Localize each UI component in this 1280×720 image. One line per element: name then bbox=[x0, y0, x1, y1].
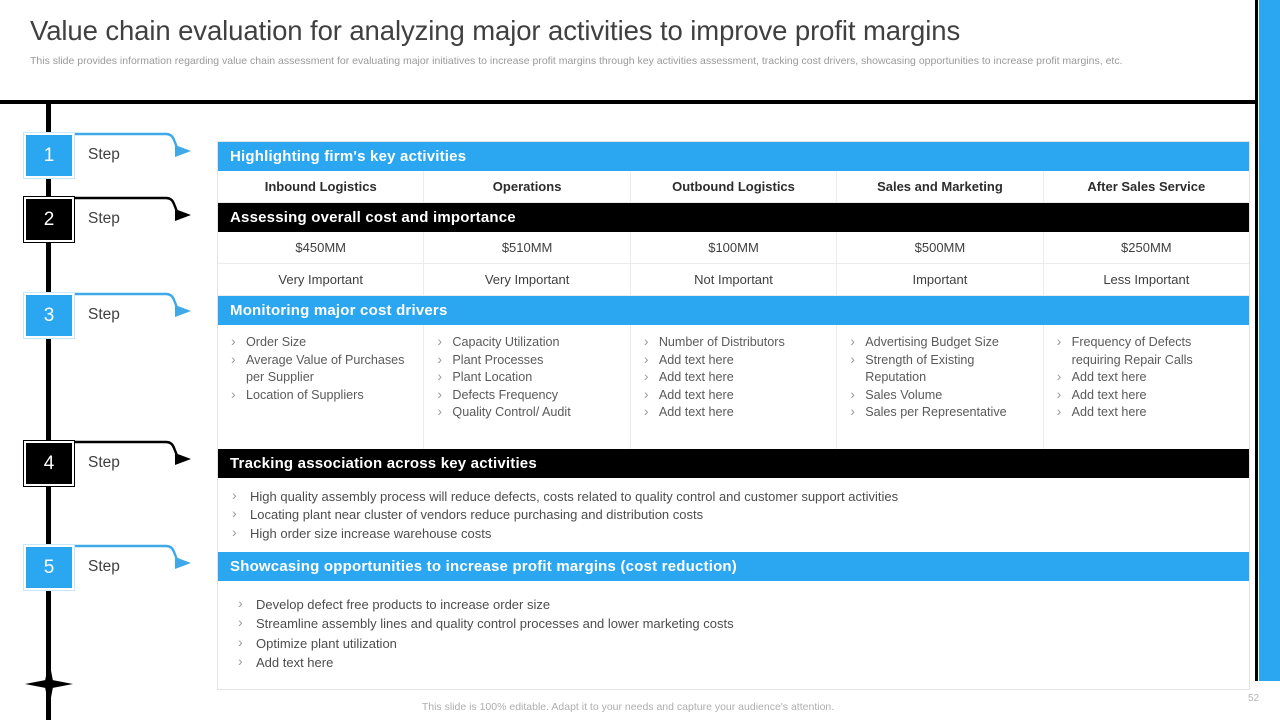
timeline-spine bbox=[46, 100, 51, 720]
band-showcasing: Showcasing opportunities to increase pro… bbox=[218, 552, 1249, 581]
cost-value: $250MM bbox=[1044, 232, 1249, 264]
importance-value: Less Important bbox=[1044, 264, 1249, 296]
cost-driver-column: Advertising Budget SizeStrength of Exist… bbox=[837, 325, 1043, 449]
step-number: 3 bbox=[26, 295, 72, 336]
list-item: Plant Location bbox=[434, 369, 621, 387]
importance-value: Not Important bbox=[631, 264, 837, 296]
step-number: 5 bbox=[26, 547, 72, 588]
list-item: Defects Frequency bbox=[434, 387, 621, 405]
timeline-step-5[interactable]: 5 bbox=[24, 545, 74, 590]
activity-column-header: Operations bbox=[424, 171, 630, 203]
list-item: Number of Distributors bbox=[641, 334, 828, 352]
right-accent-bar bbox=[1259, 0, 1280, 681]
list-item: Add text here bbox=[1054, 387, 1241, 405]
activity-column-header: After Sales Service bbox=[1044, 171, 1249, 203]
showcasing-list: Develop defect free products to increase… bbox=[236, 595, 1249, 673]
list-item: Average Value of Purchases per Supplier bbox=[228, 352, 415, 387]
slide: Value chain evaluation for analyzing maj… bbox=[0, 0, 1280, 720]
connector-arrow-3 bbox=[74, 288, 194, 332]
band-cost-drivers: Monitoring major cost drivers bbox=[218, 296, 1249, 325]
list-item: Frequency of Defects requiring Repair Ca… bbox=[1054, 334, 1241, 369]
list-item: Add text here bbox=[641, 404, 828, 422]
step-number: 1 bbox=[26, 135, 72, 176]
list-item: Order Size bbox=[228, 334, 415, 352]
timeline-step-3[interactable]: 3 bbox=[24, 293, 74, 338]
list-item: Sales Volume bbox=[847, 387, 1034, 405]
header-divider bbox=[0, 100, 1258, 104]
list-item: Streamline assembly lines and quality co… bbox=[236, 614, 1249, 634]
list-item: Add text here bbox=[641, 369, 828, 387]
cost-value: $510MM bbox=[424, 232, 630, 264]
list-item: High quality assembly process will reduc… bbox=[230, 488, 1249, 506]
list-item: Add text here bbox=[1054, 369, 1241, 387]
showcasing-list-wrap: Develop defect free products to increase… bbox=[218, 581, 1249, 689]
cost-driver-column: Number of DistributorsAdd text hereAdd t… bbox=[631, 325, 837, 449]
cost-drivers-grid: Order SizeAverage Value of Purchases per… bbox=[218, 325, 1249, 449]
cost-driver-list: Advertising Budget SizeStrength of Exist… bbox=[847, 334, 1034, 422]
importance-value: Important bbox=[837, 264, 1043, 296]
connector-arrow-1 bbox=[74, 128, 194, 172]
cost-row: $450MM $510MM $100MM $500MM $250MM bbox=[218, 232, 1249, 264]
list-item: Strength of Existing Reputation bbox=[847, 352, 1034, 387]
activities-header-row: Inbound Logistics Operations Outbound Lo… bbox=[218, 171, 1249, 203]
list-item: Plant Processes bbox=[434, 352, 621, 370]
cost-value: $100MM bbox=[631, 232, 837, 264]
tracking-list-wrap: High quality assembly process will reduc… bbox=[218, 478, 1249, 552]
tracking-list: High quality assembly process will reduc… bbox=[230, 488, 1249, 542]
list-item: Sales per Representative bbox=[847, 404, 1034, 422]
list-item: Capacity Utilization bbox=[434, 334, 621, 352]
list-item: Add text here bbox=[1054, 404, 1241, 422]
band-tracking: Tracking association across key activiti… bbox=[218, 449, 1249, 478]
connector-arrow-2 bbox=[74, 192, 194, 236]
connector-arrow-5 bbox=[74, 540, 194, 584]
step-number: 4 bbox=[26, 443, 72, 484]
band-key-activities: Highlighting firm's key activities bbox=[218, 142, 1249, 171]
importance-value: Very Important bbox=[218, 264, 424, 296]
cost-driver-column: Order SizeAverage Value of Purchases per… bbox=[218, 325, 424, 449]
band-cost-importance: Assessing overall cost and importance bbox=[218, 203, 1249, 232]
slide-header: Value chain evaluation for analyzing maj… bbox=[0, 0, 1256, 69]
cost-driver-list: Order SizeAverage Value of Purchases per… bbox=[228, 334, 415, 404]
cost-value: $450MM bbox=[218, 232, 424, 264]
list-item: Quality Control/ Audit bbox=[434, 404, 621, 422]
list-item: Add text here bbox=[236, 653, 1249, 673]
list-item: Develop defect free products to increase… bbox=[236, 595, 1249, 615]
timeline-step-2[interactable]: 2 bbox=[24, 197, 74, 242]
cost-value: $500MM bbox=[837, 232, 1043, 264]
timeline-step-1[interactable]: 1 bbox=[24, 133, 74, 178]
cost-driver-list: Frequency of Defects requiring Repair Ca… bbox=[1054, 334, 1241, 422]
cost-driver-list: Capacity UtilizationPlant ProcessesPlant… bbox=[434, 334, 621, 422]
page-subtitle: This slide provides information regardin… bbox=[30, 55, 1190, 69]
activity-column-header: Outbound Logistics bbox=[631, 171, 837, 203]
step-number: 2 bbox=[26, 199, 72, 240]
page-number: 52 bbox=[1248, 693, 1259, 704]
importance-value: Very Important bbox=[424, 264, 630, 296]
activity-column-header: Inbound Logistics bbox=[218, 171, 424, 203]
footer-note: This slide is 100% editable. Adapt it to… bbox=[0, 701, 1256, 713]
list-item: Location of Suppliers bbox=[228, 387, 415, 405]
list-item: Optimize plant utilization bbox=[236, 634, 1249, 654]
value-chain-table: Highlighting firm's key activities Inbou… bbox=[217, 141, 1250, 690]
list-item: Add text here bbox=[641, 387, 828, 405]
cost-driver-column: Capacity UtilizationPlant ProcessesPlant… bbox=[424, 325, 630, 449]
cost-driver-column: Frequency of Defects requiring Repair Ca… bbox=[1044, 325, 1249, 449]
page-title: Value chain evaluation for analyzing maj… bbox=[30, 12, 1226, 50]
list-item: Add text here bbox=[641, 352, 828, 370]
connector-arrow-4 bbox=[74, 436, 194, 480]
timeline-step-4[interactable]: 4 bbox=[24, 441, 74, 486]
list-item: High order size increase warehouse costs bbox=[230, 525, 1249, 543]
list-item: Advertising Budget Size bbox=[847, 334, 1034, 352]
activity-column-header: Sales and Marketing bbox=[837, 171, 1043, 203]
cost-driver-list: Number of DistributorsAdd text hereAdd t… bbox=[641, 334, 828, 422]
importance-row: Very Important Very Important Not Import… bbox=[218, 264, 1249, 296]
list-item: Locating plant near cluster of vendors r… bbox=[230, 506, 1249, 524]
